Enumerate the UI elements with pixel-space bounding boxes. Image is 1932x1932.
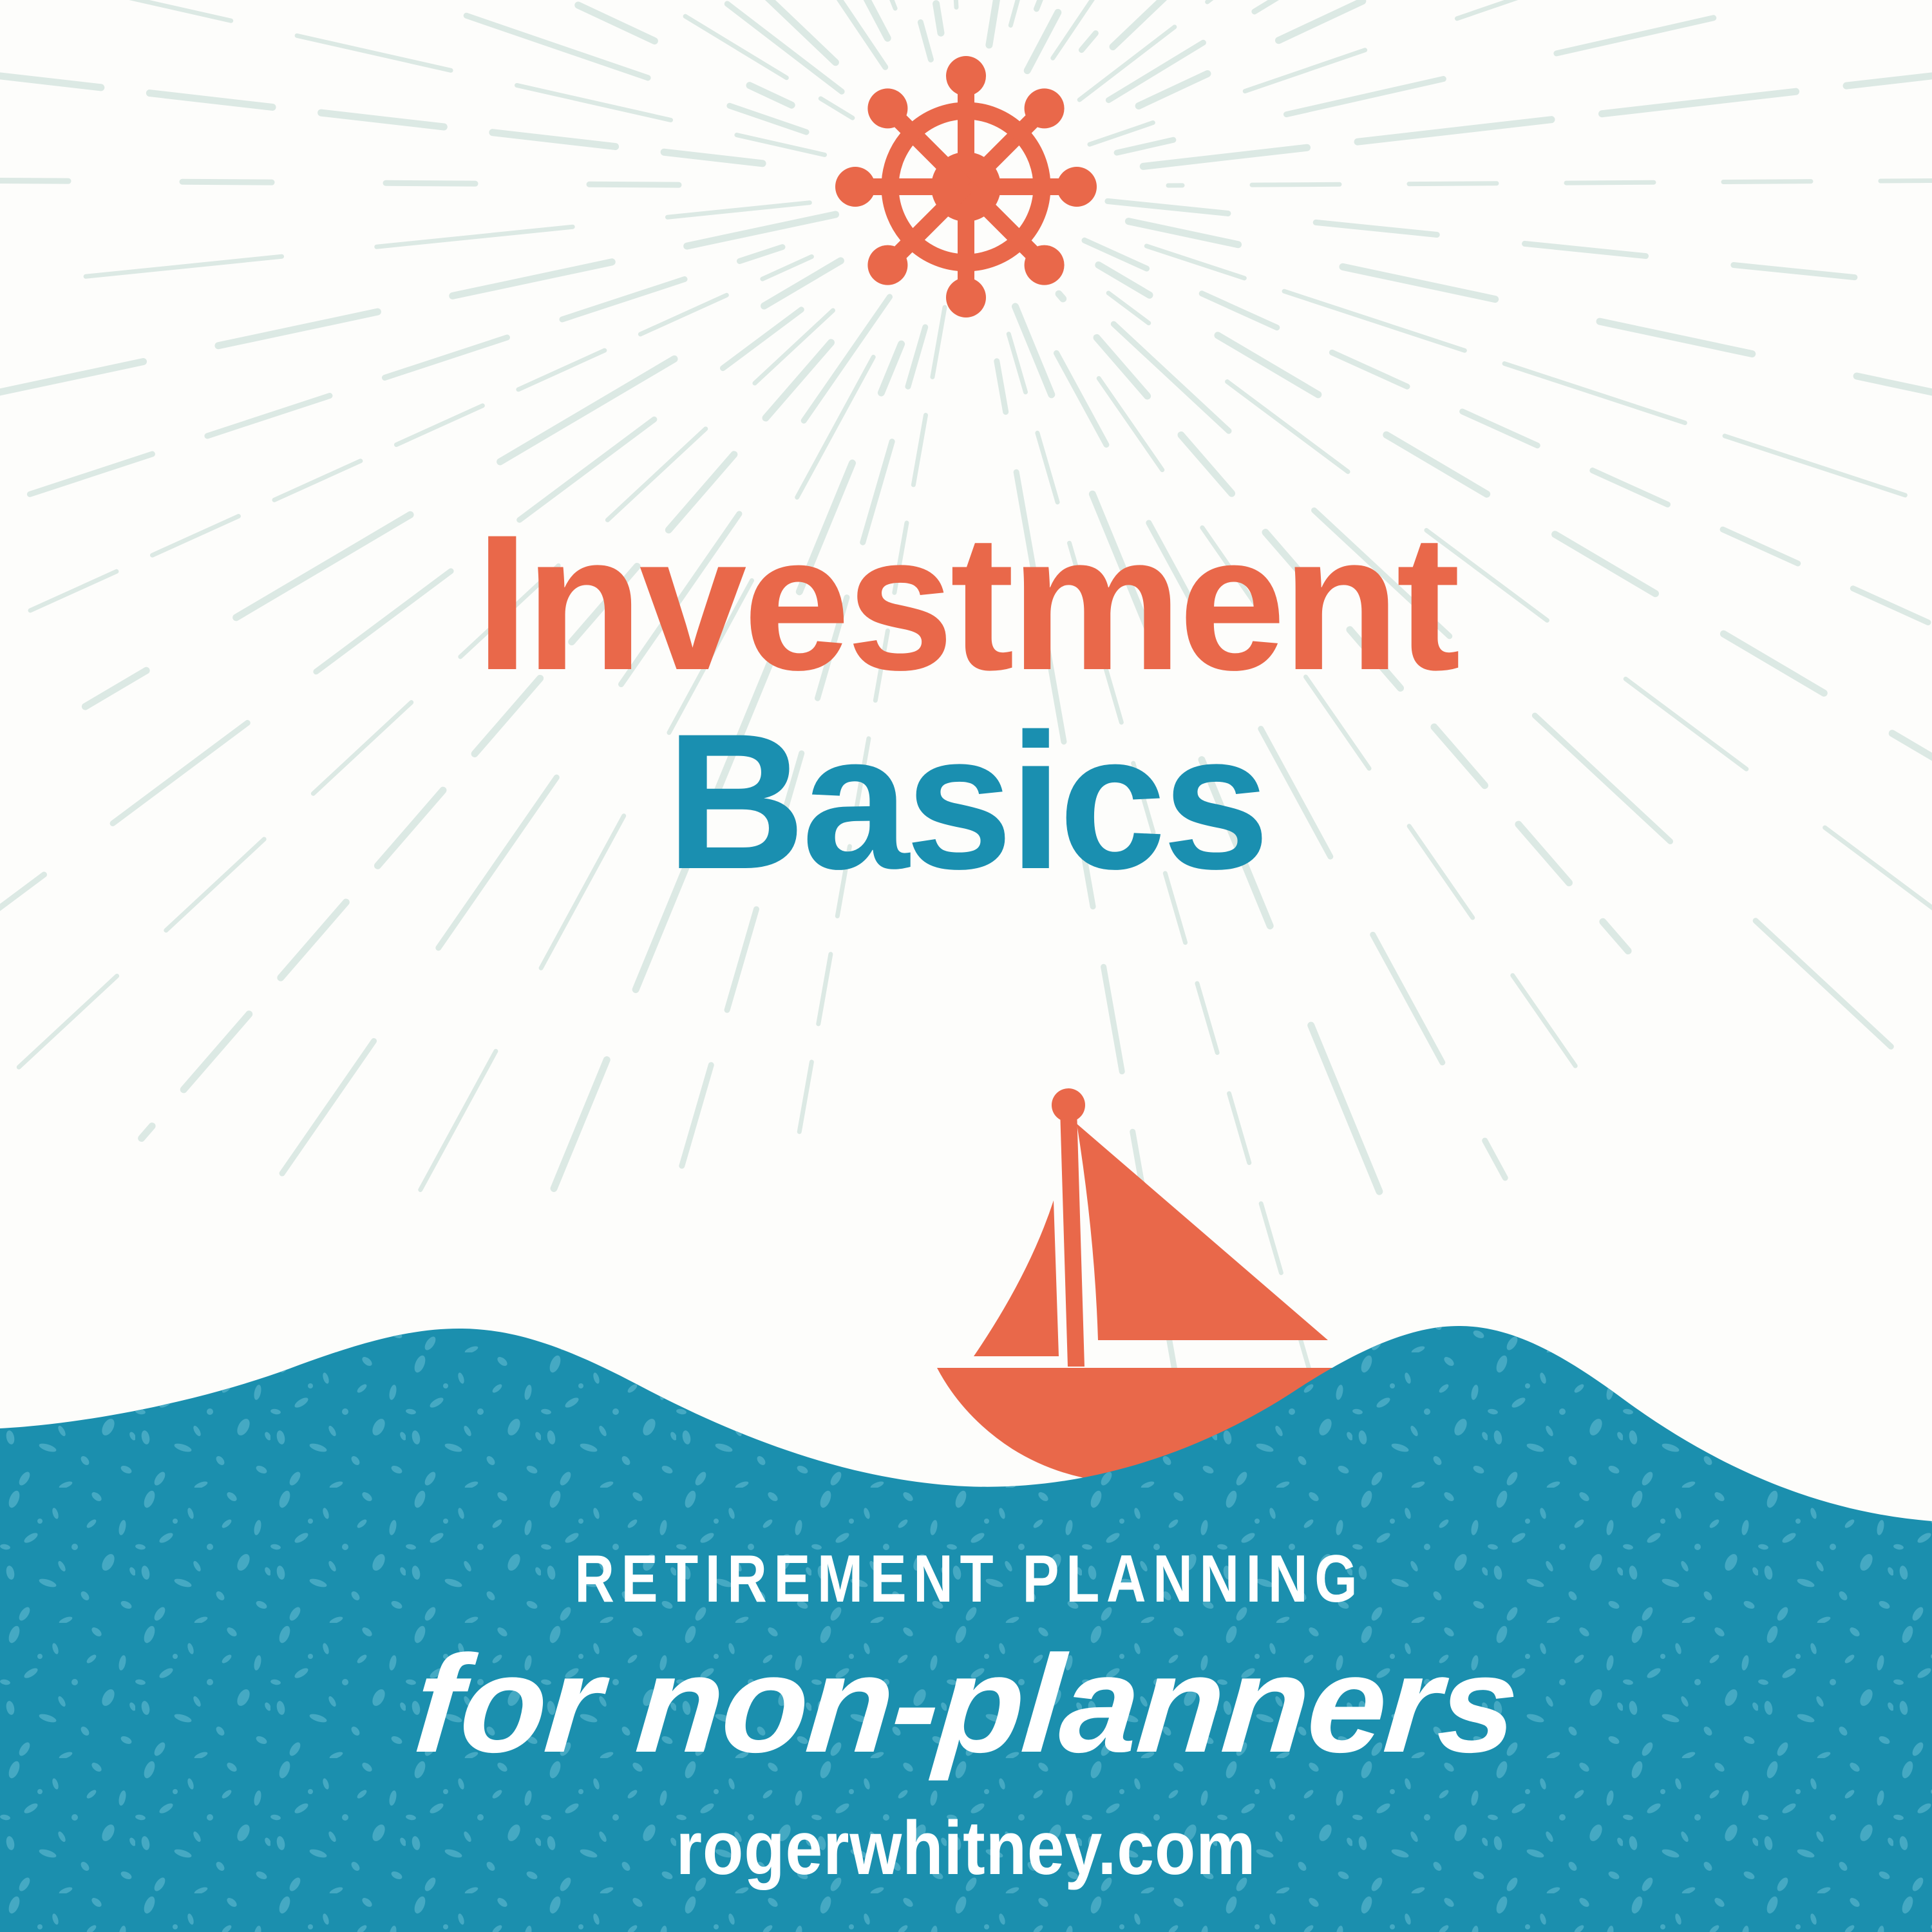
kicker-retirement-planning: RETIREMENT PLANNING — [174, 1546, 1758, 1613]
website-url: rogerwhitney.com — [116, 1810, 1816, 1886]
podcast-cover-art: Investment Basics — [0, 0, 1932, 1932]
footer-block: RETIREMENT PLANNING for non-planners rog… — [0, 1546, 1932, 1886]
tagline-for-non-planners: for non-planners — [0, 1634, 1932, 1773]
